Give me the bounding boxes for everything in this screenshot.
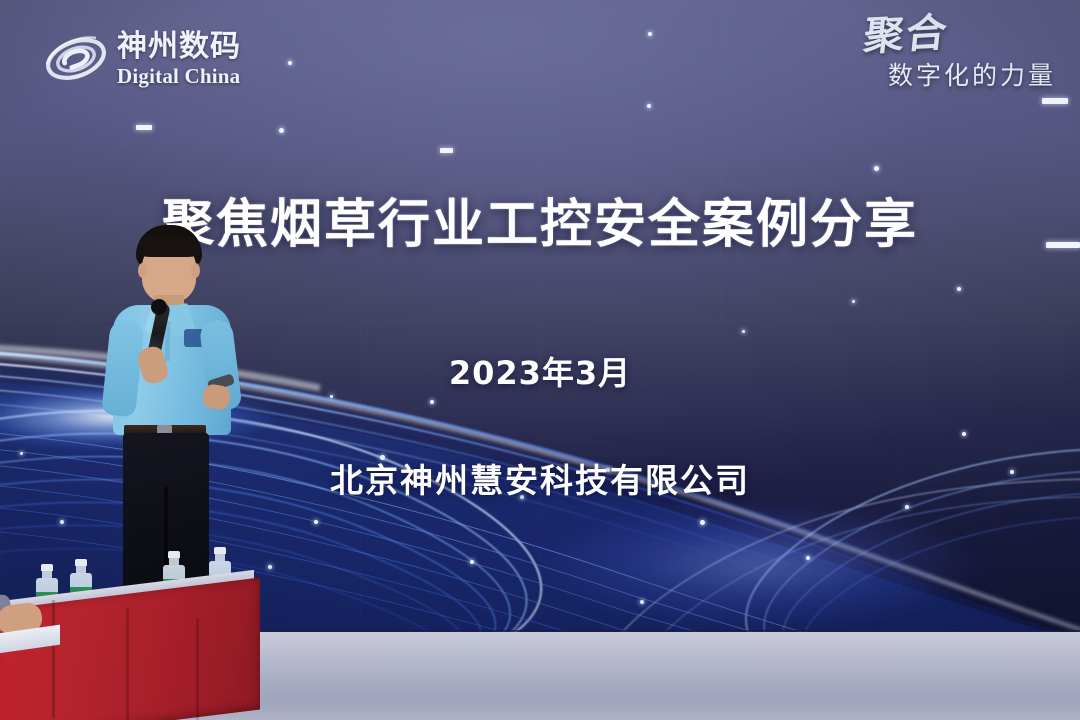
bottle-cap	[75, 559, 87, 566]
speaker-ear-left	[138, 263, 147, 278]
bottle-neck	[215, 554, 225, 561]
logo-english-name: Digital China	[117, 66, 241, 87]
table-skirt-pleat	[196, 618, 199, 720]
bottle-cap	[41, 564, 53, 571]
slogan-subtitle: 数字化的力量	[888, 56, 1056, 92]
digital-china-swirl-icon	[44, 30, 108, 88]
bottle-cap	[168, 551, 180, 558]
table-skirt-pleat	[126, 608, 129, 720]
event-slogan: 聚合 数字化的力量	[786, 16, 1056, 116]
conference-photo: 神州数码 Digital China 聚合 数字化的力量 聚焦烟草行业工控安全案…	[0, 0, 1080, 720]
seated-attendee	[0, 596, 64, 660]
digital-china-logo: 神州数码 Digital China	[44, 20, 294, 98]
slogan-calligraphy: 聚合	[862, 14, 951, 56]
bottle-neck	[42, 571, 52, 578]
logo-chinese-name: 神州数码	[117, 32, 241, 62]
bottle-cap	[214, 547, 226, 554]
bottle-neck	[169, 558, 179, 565]
speaker-hair-front	[137, 235, 201, 257]
speaker-ear-right	[191, 263, 200, 278]
bottle-neck	[76, 566, 86, 573]
